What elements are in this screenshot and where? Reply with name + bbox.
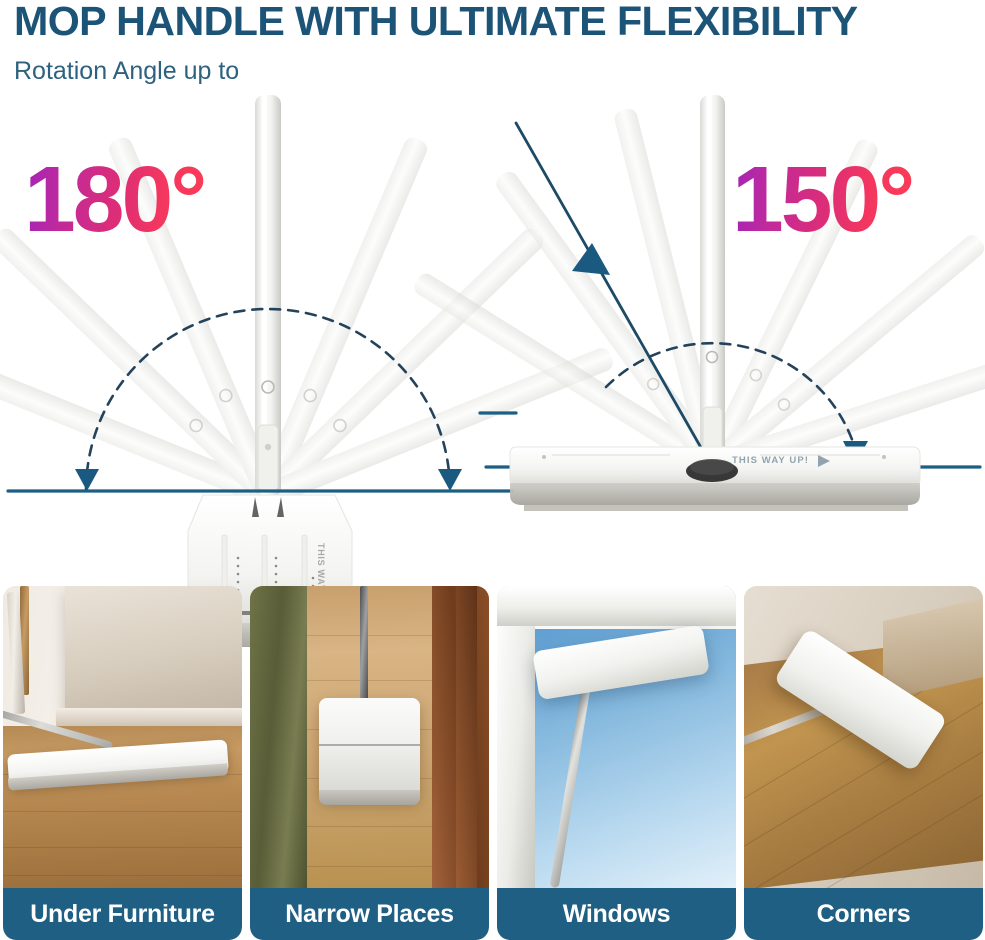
- card-caption-narrow-places: Narrow Places: [250, 888, 489, 940]
- card-under-furniture[interactable]: Under Furniture: [3, 586, 242, 940]
- handle-upright-150: [700, 95, 725, 467]
- page-subtitle: Rotation Angle up to: [14, 56, 239, 86]
- angle-value-180: 180°: [24, 153, 204, 246]
- card-narrow-places[interactable]: Narrow Places: [250, 586, 489, 940]
- angle-indicator-arrow-150: [572, 243, 610, 275]
- angle-value-150: 150°: [732, 153, 912, 246]
- photo-windows: [497, 586, 736, 890]
- diagram-rotation-180: THIS WAY UP! 180°: [0, 95, 520, 575]
- card-caption-windows: Windows: [497, 888, 736, 940]
- card-corners[interactable]: Corners: [744, 586, 983, 940]
- use-case-cards: Under Furniture Narrow Places: [0, 586, 985, 940]
- rotation-diagrams: THIS WAY UP! 180°: [0, 95, 985, 575]
- photo-under-furniture: [3, 586, 242, 890]
- card-windows[interactable]: Windows: [497, 586, 736, 940]
- mop-this-way-up-label-150: THIS WAY UP!: [732, 455, 809, 466]
- diagram-rotation-150: THIS WAY UP! 150°: [480, 95, 985, 575]
- photo-narrow-places: [250, 586, 489, 890]
- page-title: MOP HANDLE WITH ULTIMATE FLEXIBILITY: [14, 0, 985, 44]
- card-caption-under-furniture: Under Furniture: [3, 888, 242, 940]
- card-caption-corners: Corners: [744, 888, 983, 940]
- handle-upright-180: [255, 95, 281, 497]
- product-infographic: MOP HANDLE WITH ULTIMATE FLEXIBILITY Rot…: [0, 0, 985, 940]
- mop-head-150: THIS WAY UP!: [510, 447, 920, 511]
- arc-arrow-right-180: [438, 469, 462, 491]
- arc-arrow-left-180: [75, 469, 99, 491]
- photo-corners: [744, 586, 983, 890]
